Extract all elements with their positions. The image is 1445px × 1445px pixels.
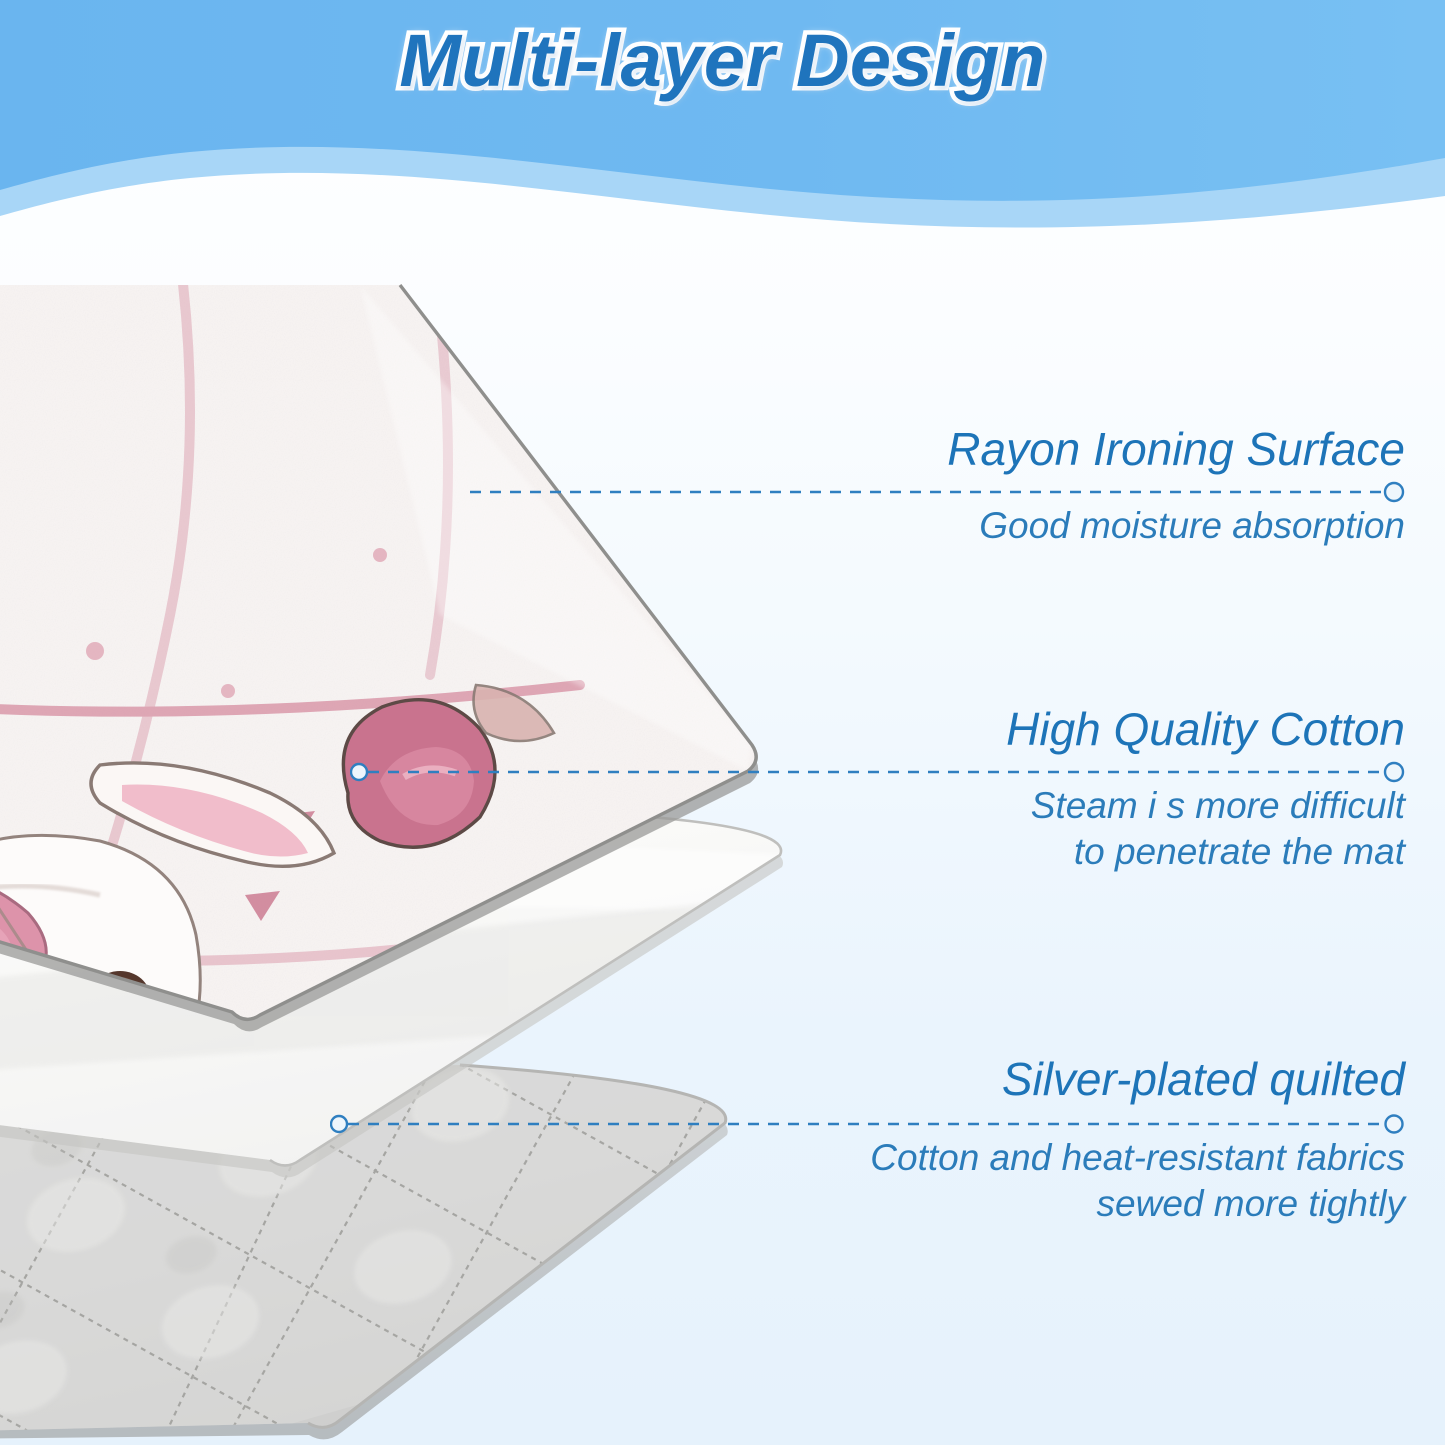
callout-rayon-connector [470, 481, 1405, 503]
page-title: Multi-layer Design [0, 18, 1445, 103]
callout-cotton-subtitle: Steam i s more difficult to penetrate th… [350, 783, 1405, 875]
callout-cotton-title: High Quality Cotton [350, 705, 1405, 755]
callout-quilted-title: Silver-plated quilted [330, 1055, 1405, 1105]
callout-cotton-connector [350, 761, 1405, 783]
connector-end-dot [1386, 1115, 1403, 1132]
connector-start-dot [351, 764, 367, 780]
callout-rayon-subtitle: Good moisture absorption [470, 503, 1405, 549]
callout-quilted-connector [330, 1113, 1405, 1135]
callout-quilted-subtitle: Cotton and heat-resistant fabrics sewed … [330, 1135, 1405, 1227]
callout-cotton: High Quality Cotton Steam i s more diffi… [350, 705, 1405, 874]
connector-start-dot [331, 1116, 347, 1132]
connector-end-dot [1385, 483, 1403, 501]
callout-quilted: Silver-plated quilted Cotton and heat-re… [330, 1055, 1405, 1226]
callout-rayon-title: Rayon Ironing Surface [470, 425, 1405, 475]
callout-rayon: Rayon Ironing Surface Good moisture abso… [470, 425, 1405, 549]
connector-end-dot [1385, 763, 1403, 781]
infographic-canvas: Multi-layer Design Rayon Ironing Surface… [0, 0, 1445, 1445]
